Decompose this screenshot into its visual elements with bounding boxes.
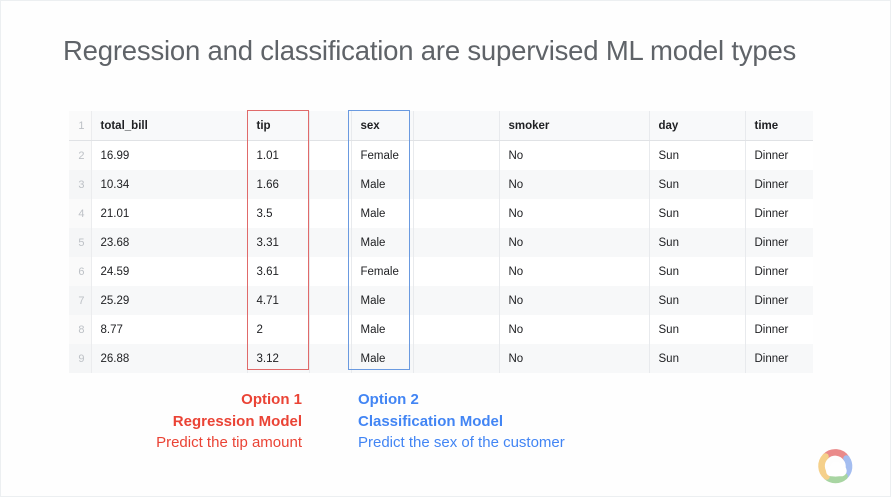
cell-time: Dinner bbox=[745, 315, 813, 344]
cell-time: Dinner bbox=[745, 257, 813, 286]
table-row[interactable]: 3 10.34 1.66 Male No Sun Dinner bbox=[69, 170, 813, 199]
page-title: Regression and classification are superv… bbox=[63, 31, 796, 71]
cell-tip: 3.12 bbox=[247, 344, 309, 373]
cell-smoker: No bbox=[499, 257, 649, 286]
option-1-description: Predict the tip amount bbox=[1, 432, 302, 454]
cell-tip: 3.31 bbox=[247, 228, 309, 257]
cell-day: Sun bbox=[649, 344, 745, 373]
cell-smoker: No bbox=[499, 141, 649, 171]
row-number: 4 bbox=[69, 199, 91, 228]
table-row[interactable]: 2 16.99 1.01 Female No Sun Dinner bbox=[69, 141, 813, 171]
option-2-label: Option 2 bbox=[358, 389, 698, 411]
row-number: 7 bbox=[69, 286, 91, 315]
cell-day: Sun bbox=[649, 199, 745, 228]
caption-option-1: Option 1 Regression Model Predict the ti… bbox=[1, 389, 302, 454]
row-number-header: 1 bbox=[69, 111, 91, 141]
cell-time: Dinner bbox=[745, 286, 813, 315]
cell-tip: 3.5 bbox=[247, 199, 309, 228]
column-header-day[interactable]: day bbox=[649, 111, 745, 141]
cell-time: Dinner bbox=[745, 199, 813, 228]
cell-gap-b bbox=[413, 170, 499, 199]
google-cloud-logo bbox=[811, 443, 861, 489]
cell-gap-b bbox=[413, 199, 499, 228]
table-row[interactable]: 6 24.59 3.61 Female No Sun Dinner bbox=[69, 257, 813, 286]
cell-day: Sun bbox=[649, 286, 745, 315]
cell-smoker: No bbox=[499, 199, 649, 228]
cell-total-bill: 8.77 bbox=[91, 315, 247, 344]
row-number: 3 bbox=[69, 170, 91, 199]
column-header-time[interactable]: time bbox=[745, 111, 813, 141]
cell-gap-a bbox=[309, 344, 351, 373]
cell-total-bill: 26.88 bbox=[91, 344, 247, 373]
cell-tip: 1.66 bbox=[247, 170, 309, 199]
cell-total-bill: 23.68 bbox=[91, 228, 247, 257]
cell-gap-a bbox=[309, 199, 351, 228]
cell-time: Dinner bbox=[745, 344, 813, 373]
cell-time: Dinner bbox=[745, 170, 813, 199]
cell-tip: 1.01 bbox=[247, 141, 309, 171]
cell-smoker: No bbox=[499, 315, 649, 344]
cell-smoker: No bbox=[499, 286, 649, 315]
cell-gap-b bbox=[413, 141, 499, 171]
cell-sex: Male bbox=[351, 199, 413, 228]
cell-gap-a bbox=[309, 315, 351, 344]
cell-sex: Male bbox=[351, 228, 413, 257]
cell-total-bill: 25.29 bbox=[91, 286, 247, 315]
cell-day: Sun bbox=[649, 257, 745, 286]
cell-smoker: No bbox=[499, 344, 649, 373]
option-1-label: Option 1 bbox=[1, 389, 302, 411]
caption-option-2: Option 2 Classification Model Predict th… bbox=[358, 389, 698, 454]
option-1-model: Regression Model bbox=[1, 411, 302, 433]
cell-total-bill: 24.59 bbox=[91, 257, 247, 286]
column-header-total-bill[interactable]: total_bill bbox=[91, 111, 247, 141]
row-number: 8 bbox=[69, 315, 91, 344]
column-header-tip[interactable]: tip bbox=[247, 111, 309, 141]
slide-canvas: Regression and classification are superv… bbox=[0, 0, 891, 497]
cell-sex: Male bbox=[351, 315, 413, 344]
cell-gap-a bbox=[309, 286, 351, 315]
cell-sex: Female bbox=[351, 141, 413, 171]
cell-total-bill: 10.34 bbox=[91, 170, 247, 199]
row-number: 5 bbox=[69, 228, 91, 257]
cell-smoker: No bbox=[499, 228, 649, 257]
cell-day: Sun bbox=[649, 315, 745, 344]
tips-dataset-table: 1 total_bill tip sex smoker day time 2 1… bbox=[69, 111, 813, 373]
option-2-description: Predict the sex of the customer bbox=[358, 432, 698, 454]
table-row[interactable]: 9 26.88 3.12 Male No Sun Dinner bbox=[69, 344, 813, 373]
option-2-model: Classification Model bbox=[358, 411, 698, 433]
cell-gap-b bbox=[413, 286, 499, 315]
cell-day: Sun bbox=[649, 228, 745, 257]
table-row[interactable]: 8 8.77 2 Male No Sun Dinner bbox=[69, 315, 813, 344]
cell-gap-b bbox=[413, 228, 499, 257]
cell-total-bill: 16.99 bbox=[91, 141, 247, 171]
table-body: 2 16.99 1.01 Female No Sun Dinner 3 10.3… bbox=[69, 141, 813, 374]
cell-tip: 4.71 bbox=[247, 286, 309, 315]
cell-tip: 3.61 bbox=[247, 257, 309, 286]
row-number: 6 bbox=[69, 257, 91, 286]
cell-sex: Female bbox=[351, 257, 413, 286]
cell-gap-a bbox=[309, 228, 351, 257]
cell-gap-b bbox=[413, 344, 499, 373]
column-header-smoker[interactable]: smoker bbox=[499, 111, 649, 141]
table-row[interactable]: 7 25.29 4.71 Male No Sun Dinner bbox=[69, 286, 813, 315]
cell-day: Sun bbox=[649, 141, 745, 171]
cell-gap-b bbox=[413, 257, 499, 286]
cell-time: Dinner bbox=[745, 228, 813, 257]
cell-total-bill: 21.01 bbox=[91, 199, 247, 228]
row-number: 9 bbox=[69, 344, 91, 373]
data-table-container: 1 total_bill tip sex smoker day time 2 1… bbox=[69, 111, 813, 370]
table-header-row: 1 total_bill tip sex smoker day time bbox=[69, 111, 813, 141]
column-header-gap-b bbox=[413, 111, 499, 141]
column-header-gap-a bbox=[309, 111, 351, 141]
cell-sex: Male bbox=[351, 344, 413, 373]
cell-gap-a bbox=[309, 257, 351, 286]
cell-gap-a bbox=[309, 170, 351, 199]
cell-tip: 2 bbox=[247, 315, 309, 344]
row-number: 2 bbox=[69, 141, 91, 171]
cell-sex: Male bbox=[351, 286, 413, 315]
cell-time: Dinner bbox=[745, 141, 813, 171]
column-header-sex[interactable]: sex bbox=[351, 111, 413, 141]
table-row[interactable]: 5 23.68 3.31 Male No Sun Dinner bbox=[69, 228, 813, 257]
cell-smoker: No bbox=[499, 170, 649, 199]
cell-gap-b bbox=[413, 315, 499, 344]
cell-day: Sun bbox=[649, 170, 745, 199]
table-row[interactable]: 4 21.01 3.5 Male No Sun Dinner bbox=[69, 199, 813, 228]
cell-sex: Male bbox=[351, 170, 413, 199]
cell-gap-a bbox=[309, 141, 351, 171]
